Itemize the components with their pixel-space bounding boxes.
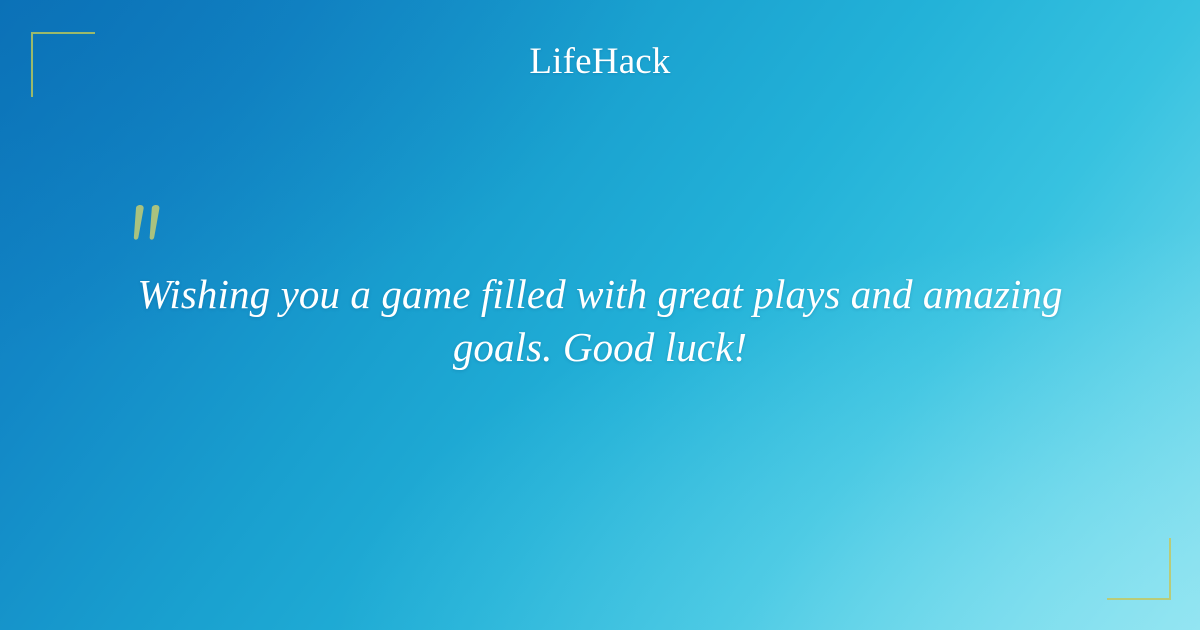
corner-bracket-bottom-right-icon — [1107, 538, 1171, 600]
quote-card: LifeHack Wishing you a game filled with … — [0, 0, 1200, 630]
quote-mark-icon — [130, 183, 190, 247]
quote-text: Wishing you a game filled with great pla… — [120, 268, 1080, 374]
brand-logo: LifeHack — [0, 40, 1200, 84]
corner-bracket-top-left-icon — [31, 32, 95, 97]
